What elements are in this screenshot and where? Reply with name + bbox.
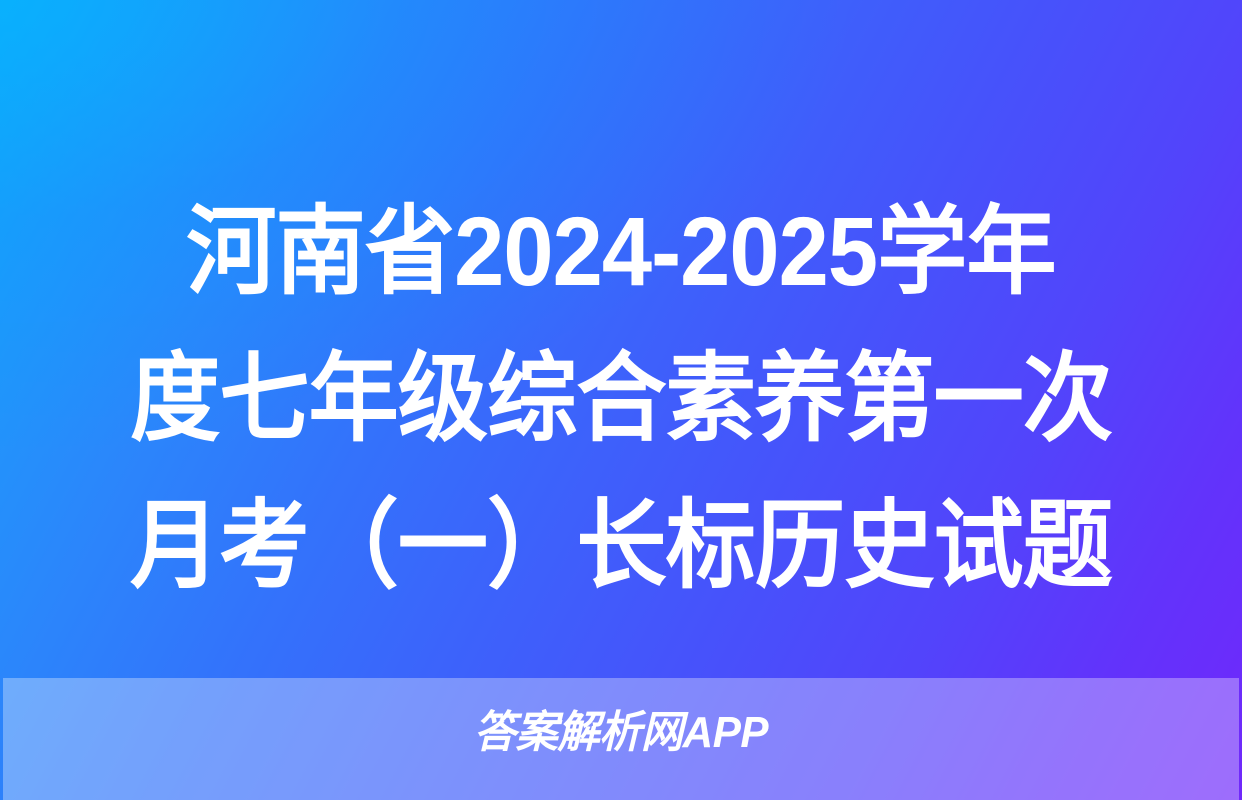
exam-title-banner: 河南省2024-2025学年 度七年级综合素养第一次 月考（一）长标历史试题 答…: [0, 0, 1242, 800]
watermark-band: 答案解析网APP: [3, 678, 1239, 800]
page-title: 河南省2024-2025学年 度七年级综合素养第一次 月考（一）长标历史试题: [0, 178, 1242, 619]
watermark-label: 答案解析网APP: [28, 708, 1215, 758]
title-line-3: 月考（一）长标历史试题: [43, 472, 1198, 619]
title-line-1: 河南省2024-2025学年: [43, 178, 1198, 325]
title-line-2: 度七年级综合素养第一次: [43, 325, 1198, 472]
